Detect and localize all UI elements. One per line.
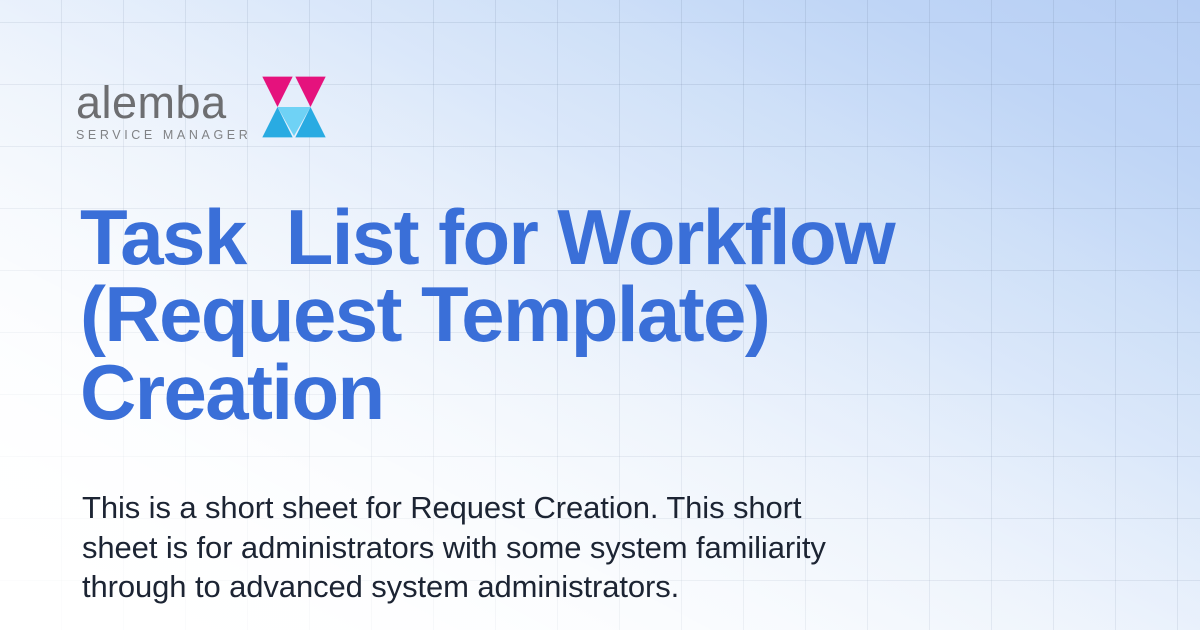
hero-banner: alemba SERVICE MANAGER Task List for Wor…	[0, 0, 1200, 630]
logo-tagline: SERVICE MANAGER	[76, 128, 251, 142]
logo-text-block: alemba SERVICE MANAGER	[76, 81, 251, 142]
alemba-service-manager-logo: alemba SERVICE MANAGER	[76, 74, 327, 142]
logo-wordmark: alemba	[76, 81, 227, 124]
page-title: Task List for Workflow (Request Template…	[80, 199, 1040, 431]
alemba-x-mark-icon	[261, 74, 327, 140]
page-description: This is a short sheet for Request Creati…	[82, 488, 842, 607]
